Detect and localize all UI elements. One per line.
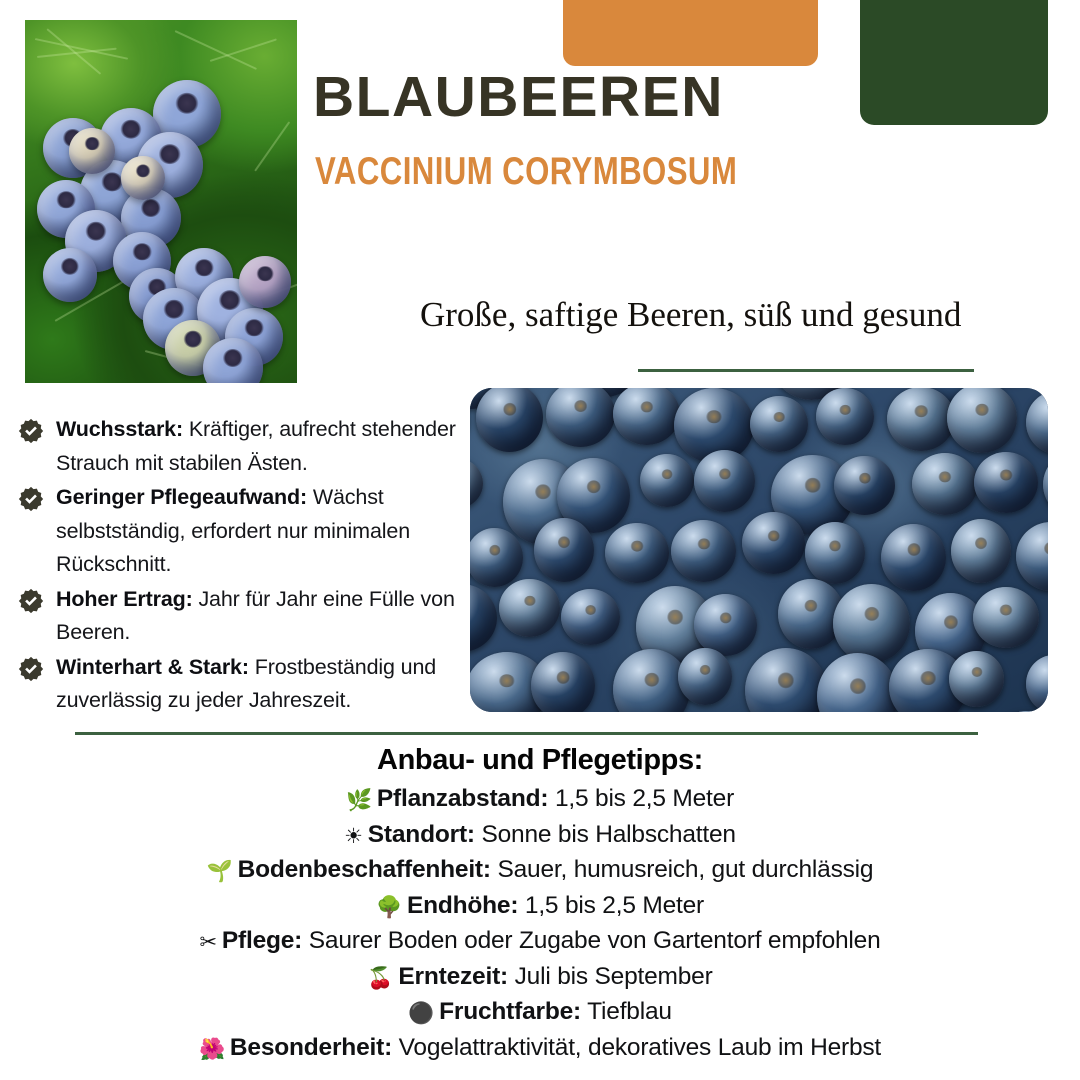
harvested-blueberries-photo bbox=[470, 388, 1048, 712]
tip-row: ⚫Fruchtfarbe: Tiefblau bbox=[0, 995, 1080, 1031]
check-badge-icon bbox=[18, 486, 44, 512]
feature-item: Hoher Ertrag: Jahr für Jahr eine Fülle v… bbox=[18, 583, 480, 650]
tip-value: Sauer, humusreich, gut durchlässig bbox=[491, 856, 874, 883]
orange-rounded-block bbox=[563, 0, 818, 66]
feature-item: Winterhart & Stark: Frostbeständig und z… bbox=[18, 651, 480, 718]
herb-icon: 🌿 bbox=[346, 789, 372, 812]
check-badge-icon bbox=[18, 656, 44, 682]
tips-list: 🌿Pflanzabstand: 1,5 bis 2,5 Meter☀Stando… bbox=[0, 782, 1080, 1066]
blueberry-bush-photo bbox=[25, 20, 297, 383]
tip-row: ☀Standort: Sonne bis Halbschatten bbox=[0, 818, 1080, 854]
tip-label: Standort: bbox=[368, 821, 475, 848]
tip-row: 🌱Bodenbeschaffenheit: Sauer, humusreich,… bbox=[0, 853, 1080, 889]
cherries-icon: 🍒 bbox=[367, 967, 393, 990]
tip-label: Bodenbeschaffenheit: bbox=[238, 856, 491, 883]
tip-value: Tiefblau bbox=[581, 998, 672, 1025]
feature-label: Wuchsstark: bbox=[56, 417, 183, 441]
tip-row: 🍒Erntezeit: Juli bis September bbox=[0, 960, 1080, 996]
tip-label: Endhöhe: bbox=[407, 892, 518, 919]
feature-item: Wuchsstark: Kräftiger, aufrecht stehende… bbox=[18, 413, 480, 480]
tip-row: 🌳Endhöhe: 1,5 bis 2,5 Meter bbox=[0, 889, 1080, 925]
tip-row: ✂Pflege: Saurer Boden oder Zugabe von Ga… bbox=[0, 924, 1080, 960]
feature-label: Hoher Ertrag: bbox=[56, 587, 193, 611]
tip-value: Sonne bis Halbschatten bbox=[475, 821, 736, 848]
tip-value: 1,5 bis 2,5 Meter bbox=[548, 785, 734, 812]
tip-value: 1,5 bis 2,5 Meter bbox=[518, 892, 704, 919]
feature-item: Geringer Pflegeaufwand: Wächst selbststä… bbox=[18, 481, 480, 582]
sun-icon: ☀ bbox=[344, 825, 363, 848]
scissors-icon: ✂ bbox=[199, 931, 216, 954]
page-subtitle: VACCINIUM CORYMBOSUM bbox=[315, 152, 737, 191]
hibiscus-icon: 🌺 bbox=[199, 1038, 225, 1061]
check-badge-icon bbox=[18, 418, 44, 444]
poster-canvas: BLAUBEEREN VACCINIUM CORYMBOSUM Große, s… bbox=[0, 0, 1080, 1080]
tip-row: 🌺Besonderheit: Vogelattraktivität, dekor… bbox=[0, 1031, 1080, 1067]
tip-value: Saurer Boden oder Zugabe von Gartentorf … bbox=[302, 927, 880, 954]
tree-icon: 🌳 bbox=[376, 896, 402, 919]
seedling-icon: 🌱 bbox=[207, 860, 233, 883]
tip-label: Fruchtfarbe: bbox=[439, 998, 581, 1025]
feature-list: Wuchsstark: Kräftiger, aufrecht stehende… bbox=[18, 413, 480, 719]
tip-row: 🌿Pflanzabstand: 1,5 bis 2,5 Meter bbox=[0, 782, 1080, 818]
tips-heading: Anbau- und Pflegetipps: bbox=[0, 744, 1080, 777]
green-rounded-block bbox=[860, 0, 1048, 125]
tip-value: Vogelattraktivität, dekoratives Laub im … bbox=[392, 1034, 881, 1061]
tagline-divider bbox=[638, 369, 974, 372]
tip-value: Juli bis September bbox=[508, 963, 713, 990]
tip-label: Pflege: bbox=[222, 927, 302, 954]
check-badge-icon bbox=[18, 588, 44, 614]
page-title: BLAUBEEREN bbox=[313, 69, 724, 126]
feature-label: Geringer Pflegeaufwand: bbox=[56, 485, 307, 509]
black-circle-icon: ⚫ bbox=[408, 1002, 434, 1025]
tagline: Große, saftige Beeren, süß und gesund bbox=[420, 295, 1040, 335]
feature-label: Winterhart & Stark: bbox=[56, 655, 249, 679]
tip-label: Erntezeit: bbox=[398, 963, 508, 990]
tips-divider bbox=[75, 732, 978, 735]
tip-label: Besonderheit: bbox=[230, 1034, 392, 1061]
tip-label: Pflanzabstand: bbox=[377, 785, 548, 812]
